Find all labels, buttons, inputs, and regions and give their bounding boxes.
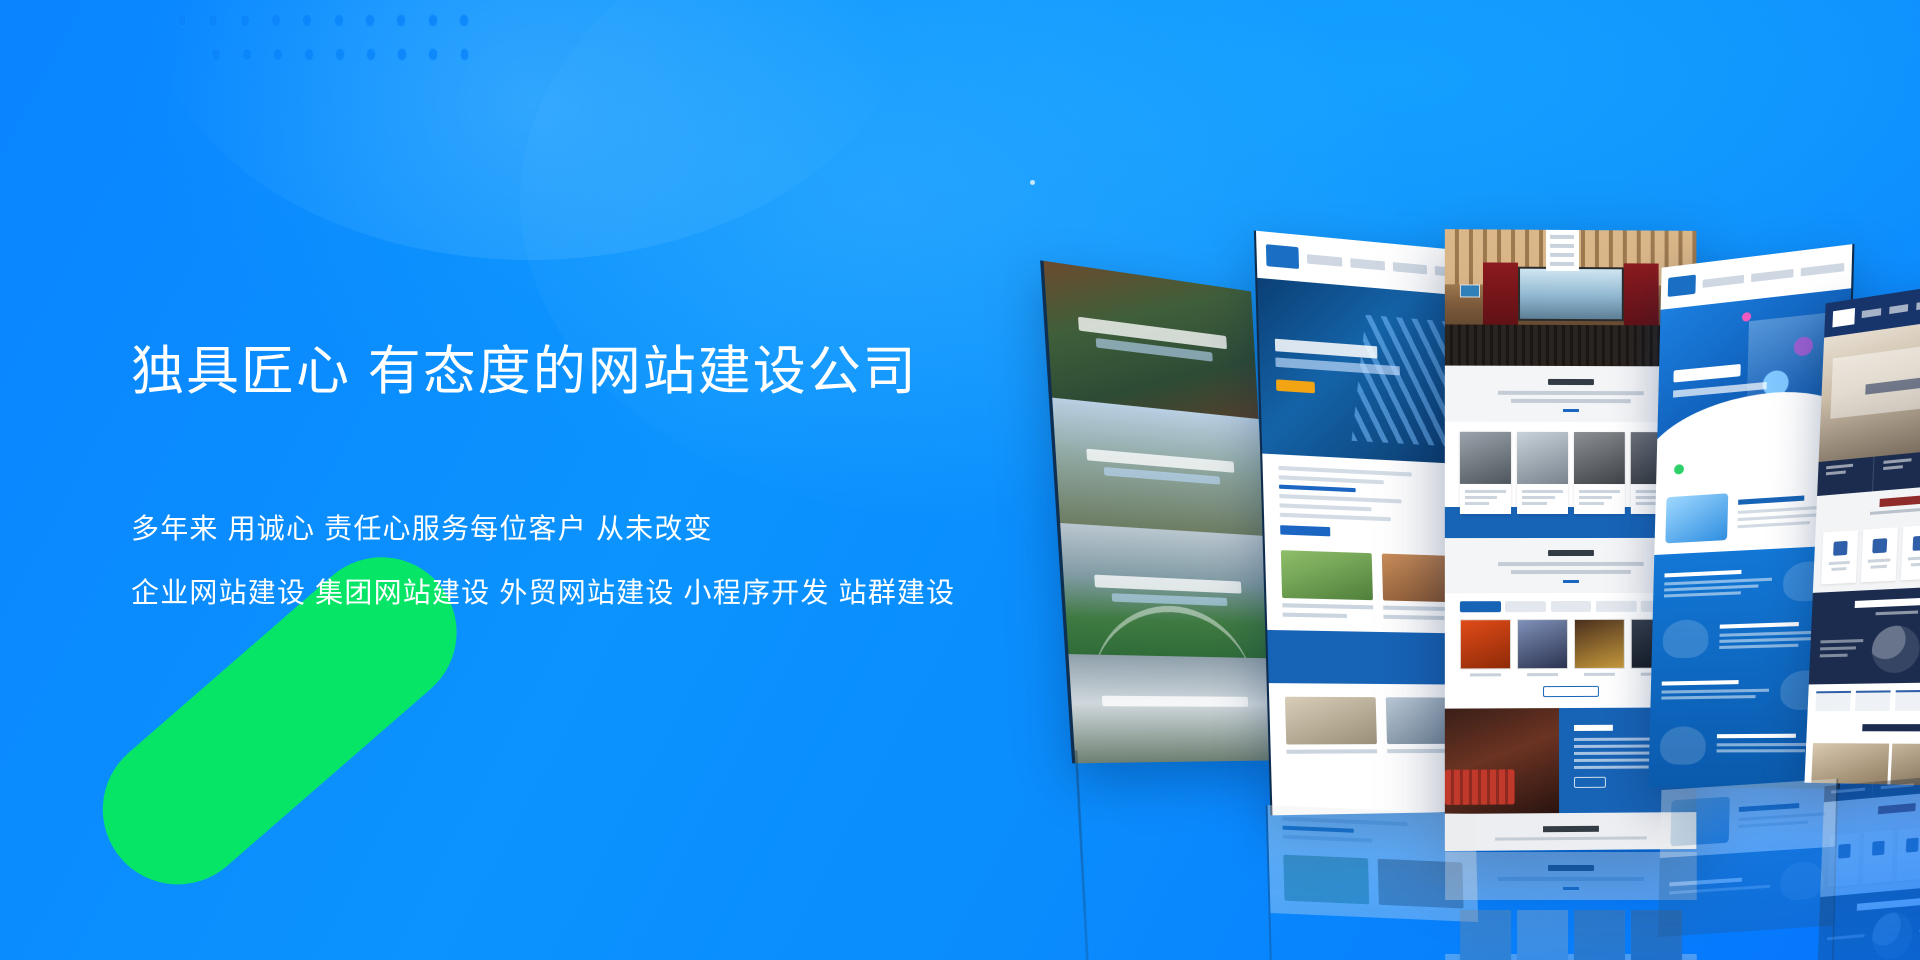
grid-dot <box>398 49 406 60</box>
reflection-aerial-photo-site <box>1075 750 1278 960</box>
grid-dot <box>336 49 344 60</box>
montage-reflection <box>1115 230 1920 790</box>
grid-dot <box>305 49 313 60</box>
reflection-education-illustration-site <box>1649 779 1839 960</box>
grid-dot <box>366 15 374 26</box>
grid-dot <box>460 15 468 26</box>
grid-dot <box>303 15 311 26</box>
website-showcase-montage <box>1115 230 1920 790</box>
hero-subtitle-1: 多年来 用诚心 责任心服务每位客户 从未改变 <box>131 507 991 550</box>
grid-dot <box>241 15 249 26</box>
background-glow <box>150 0 910 260</box>
grid-dot <box>212 49 220 60</box>
grid-dot <box>274 49 282 60</box>
dot-grid-row <box>212 42 468 66</box>
grid-dot <box>335 15 343 26</box>
grid-dot <box>209 15 217 26</box>
hero-subtitle-2: 企业网站建设 集团网站建设 外贸网站建设 小程序开发 站群建设 <box>131 571 991 614</box>
grid-dot <box>367 49 375 60</box>
grid-dot <box>243 49 251 60</box>
grid-dot <box>429 49 437 60</box>
dot-grid-decoration <box>178 8 468 64</box>
hero-subtitles: 多年来 用诚心 责任心服务每位客户 从未改变 企业网站建设 集团网站建设 外贸网… <box>131 507 991 615</box>
hero-text-block: 独具匠心 有态度的网站建设公司 多年来 用诚心 责任心服务每位客户 从未改变 企… <box>131 340 991 614</box>
grid-dot <box>461 49 469 60</box>
dot-grid-row <box>178 8 468 32</box>
page-title: 独具匠心 有态度的网站建设公司 <box>131 340 991 404</box>
grid-dot <box>397 15 405 26</box>
grid-dot <box>429 15 437 26</box>
grid-dot <box>272 15 280 26</box>
grid-dot <box>178 15 186 26</box>
hero-banner: 独具匠心 有态度的网站建设公司 多年来 用诚心 责任心服务每位客户 从未改变 企… <box>0 0 1920 960</box>
light-speck <box>1030 180 1035 185</box>
site-footer-section <box>1445 812 1697 851</box>
